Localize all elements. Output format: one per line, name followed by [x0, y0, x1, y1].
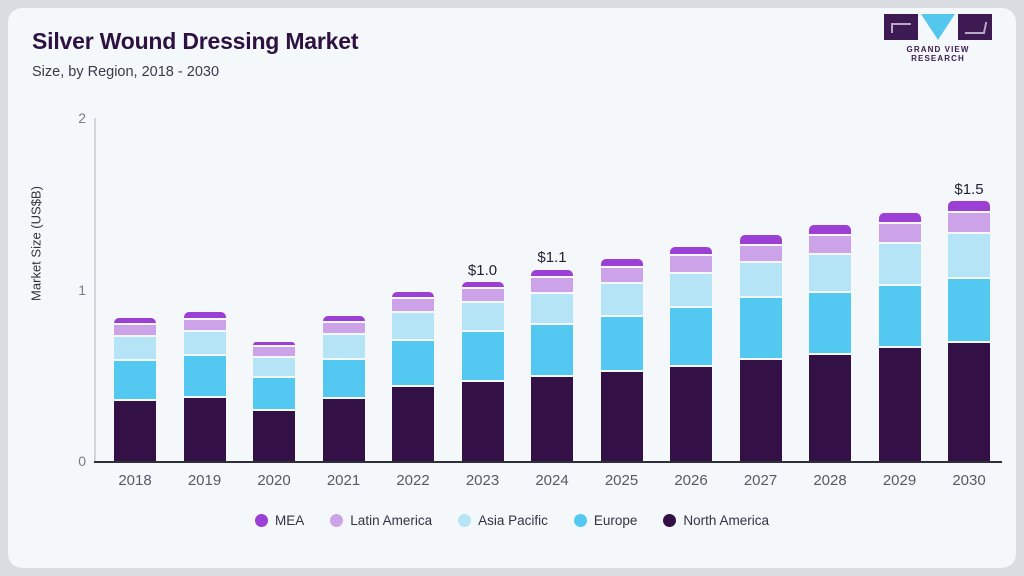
- bar-stack[interactable]: [601, 259, 643, 461]
- bar-value-label: $1.1: [512, 249, 592, 266]
- bar-segment-mea[interactable]: [531, 270, 573, 277]
- bar-stack[interactable]: [879, 213, 921, 461]
- bar-group[interactable]: [462, 290, 504, 462]
- bar-stack[interactable]: [462, 282, 504, 461]
- bar-group[interactable]: [809, 233, 851, 461]
- bar-segment-latin-america[interactable]: [601, 268, 643, 282]
- bar-segment-latin-america[interactable]: [948, 213, 990, 232]
- bar-segment-latin-america[interactable]: [670, 256, 712, 271]
- legend-label: Asia Pacific: [478, 513, 548, 528]
- bar-segment-asia-pacific[interactable]: [323, 335, 365, 357]
- legend-item-europe[interactable]: Europe: [574, 513, 638, 528]
- bar-segment-asia-pacific[interactable]: [809, 255, 851, 291]
- legend-label: North America: [683, 513, 769, 528]
- bar-segment-mea[interactable]: [392, 292, 434, 297]
- bar-segment-mea[interactable]: [809, 225, 851, 234]
- bar-segment-asia-pacific[interactable]: [114, 337, 156, 359]
- bar-segment-north-america[interactable]: [601, 372, 643, 461]
- bar-segment-europe[interactable]: [253, 378, 295, 409]
- bar-group[interactable]: [184, 320, 226, 461]
- bar-group[interactable]: [601, 267, 643, 461]
- bar-segment-latin-america[interactable]: [253, 347, 295, 356]
- bar-group[interactable]: [879, 221, 921, 461]
- bar-segment-europe[interactable]: [323, 360, 365, 398]
- bar-segment-north-america[interactable]: [184, 398, 226, 461]
- x-tick-label: 2018: [95, 472, 175, 489]
- bar-stack[interactable]: [184, 312, 226, 461]
- x-tick-label: 2023: [443, 472, 523, 489]
- bar-segment-asia-pacific[interactable]: [462, 303, 504, 330]
- bar-segment-latin-america[interactable]: [392, 299, 434, 311]
- bar-segment-asia-pacific[interactable]: [392, 313, 434, 339]
- legend-swatch-icon: [458, 514, 471, 527]
- bar-group[interactable]: [253, 350, 295, 461]
- bar-segment-asia-pacific[interactable]: [670, 274, 712, 307]
- bar-segment-latin-america[interactable]: [879, 224, 921, 243]
- bar-segment-latin-america[interactable]: [462, 289, 504, 301]
- bar-segment-mea[interactable]: [670, 247, 712, 254]
- bar-stack[interactable]: [392, 292, 434, 461]
- bar-segment-asia-pacific[interactable]: [879, 244, 921, 283]
- bar-segment-mea[interactable]: [323, 316, 365, 321]
- bar-segment-north-america[interactable]: [462, 382, 504, 461]
- bar-segment-europe[interactable]: [114, 361, 156, 399]
- legend-label: Europe: [594, 513, 638, 528]
- bar-segment-mea[interactable]: [879, 213, 921, 222]
- x-tick-label: 2027: [721, 472, 801, 489]
- x-tick-label: 2029: [860, 472, 940, 489]
- bar-segment-mea[interactable]: [601, 259, 643, 266]
- legend-item-asia-pacific[interactable]: Asia Pacific: [458, 513, 548, 528]
- bar-segment-latin-america[interactable]: [740, 246, 782, 261]
- x-tick-label: 2026: [651, 472, 731, 489]
- y-tick-label: 1: [54, 283, 86, 297]
- bar-stack[interactable]: [809, 225, 851, 461]
- x-tick-label: 2030: [929, 472, 1009, 489]
- bar-value-label: $1.5: [929, 181, 1009, 198]
- bar-segment-latin-america[interactable]: [809, 236, 851, 253]
- bar-segment-north-america[interactable]: [948, 343, 990, 461]
- bar-segment-latin-america[interactable]: [114, 325, 156, 335]
- bar-segment-europe[interactable]: [879, 286, 921, 346]
- legend-swatch-icon: [663, 514, 676, 527]
- legend-label: MEA: [275, 513, 304, 528]
- bar-segment-north-america[interactable]: [809, 355, 851, 461]
- bar-segment-mea[interactable]: [462, 282, 504, 287]
- bar-segment-europe[interactable]: [948, 279, 990, 341]
- bar-stack[interactable]: [670, 247, 712, 461]
- bar-segment-north-america[interactable]: [253, 411, 295, 461]
- bar-stack[interactable]: [531, 270, 573, 461]
- bar-stack[interactable]: [323, 316, 365, 461]
- bar-segment-asia-pacific[interactable]: [253, 358, 295, 377]
- bar-group[interactable]: [392, 300, 434, 461]
- legend-swatch-icon: [574, 514, 587, 527]
- bar-segment-mea[interactable]: [114, 318, 156, 323]
- bar-segment-north-america[interactable]: [323, 399, 365, 461]
- bar-group[interactable]: [670, 255, 712, 461]
- x-tick-label: 2020: [234, 472, 314, 489]
- y-axis-label: Market Size (US$B): [29, 154, 44, 334]
- bar-segment-north-america[interactable]: [114, 401, 156, 461]
- chart-plot-area: Market Size (US$B) 012 $1.0$1.1$1.5 2018…: [8, 8, 1016, 568]
- bar-group[interactable]: [531, 278, 573, 462]
- x-axis-line: [94, 461, 1002, 463]
- bar-segment-asia-pacific[interactable]: [740, 263, 782, 296]
- bar-segment-north-america[interactable]: [879, 348, 921, 461]
- bar-segment-mea[interactable]: [184, 312, 226, 317]
- bar-stack[interactable]: [948, 201, 990, 461]
- legend-item-north-america[interactable]: North America: [663, 513, 769, 528]
- x-tick-label: 2021: [304, 472, 384, 489]
- bar-segment-latin-america[interactable]: [323, 323, 365, 333]
- bar-segment-north-america[interactable]: [670, 367, 712, 461]
- bar-segment-europe[interactable]: [740, 298, 782, 358]
- x-tick-label: 2022: [373, 472, 453, 489]
- x-tick-label: 2024: [512, 472, 592, 489]
- bar-segment-asia-pacific[interactable]: [531, 294, 573, 323]
- legend-swatch-icon: [255, 514, 268, 527]
- bar-segment-mea[interactable]: [253, 342, 295, 345]
- bar-group[interactable]: [948, 209, 990, 461]
- bar-stack[interactable]: [253, 342, 295, 461]
- bar-segment-asia-pacific[interactable]: [184, 332, 226, 354]
- legend-label: Latin America: [350, 513, 432, 528]
- bar-segment-europe[interactable]: [531, 325, 573, 375]
- legend-swatch-icon: [330, 514, 343, 527]
- bar-segment-north-america[interactable]: [392, 387, 434, 461]
- bar-stack[interactable]: [114, 318, 156, 461]
- x-tick-label: 2025: [582, 472, 662, 489]
- y-tick-label: 2: [54, 111, 86, 125]
- bar-segment-north-america[interactable]: [531, 377, 573, 461]
- bar-segment-europe[interactable]: [184, 356, 226, 395]
- bar-segment-europe[interactable]: [462, 332, 504, 380]
- bar-segment-north-america[interactable]: [740, 360, 782, 461]
- bar-segment-europe[interactable]: [809, 293, 851, 353]
- bar-segment-asia-pacific[interactable]: [601, 284, 643, 315]
- bar-segment-europe[interactable]: [392, 341, 434, 386]
- legend-item-latin-america[interactable]: Latin America: [330, 513, 432, 528]
- bar-segment-latin-america[interactable]: [531, 278, 573, 292]
- x-tick-label: 2019: [165, 472, 245, 489]
- bar-group[interactable]: [323, 324, 365, 461]
- bar-segment-asia-pacific[interactable]: [948, 234, 990, 277]
- y-tick-label: 0: [54, 454, 86, 468]
- bar-group[interactable]: [740, 243, 782, 461]
- bar-group[interactable]: [114, 326, 156, 461]
- bar-value-label: $1.0: [443, 262, 523, 279]
- x-tick-label: 2028: [790, 472, 870, 489]
- chart-card: Silver Wound Dressing Market Size, by Re…: [8, 8, 1016, 568]
- bar-stack[interactable]: [740, 235, 782, 461]
- bar-segment-europe[interactable]: [601, 317, 643, 370]
- bars-container: $1.0$1.1$1.5: [94, 118, 1002, 461]
- bar-segment-europe[interactable]: [670, 308, 712, 365]
- chart-legend: MEALatin AmericaAsia PacificEuropeNorth …: [8, 513, 1016, 528]
- legend-item-mea[interactable]: MEA: [255, 513, 304, 528]
- bar-segment-mea[interactable]: [948, 201, 990, 211]
- bar-segment-mea[interactable]: [740, 235, 782, 244]
- bar-segment-latin-america[interactable]: [184, 320, 226, 330]
